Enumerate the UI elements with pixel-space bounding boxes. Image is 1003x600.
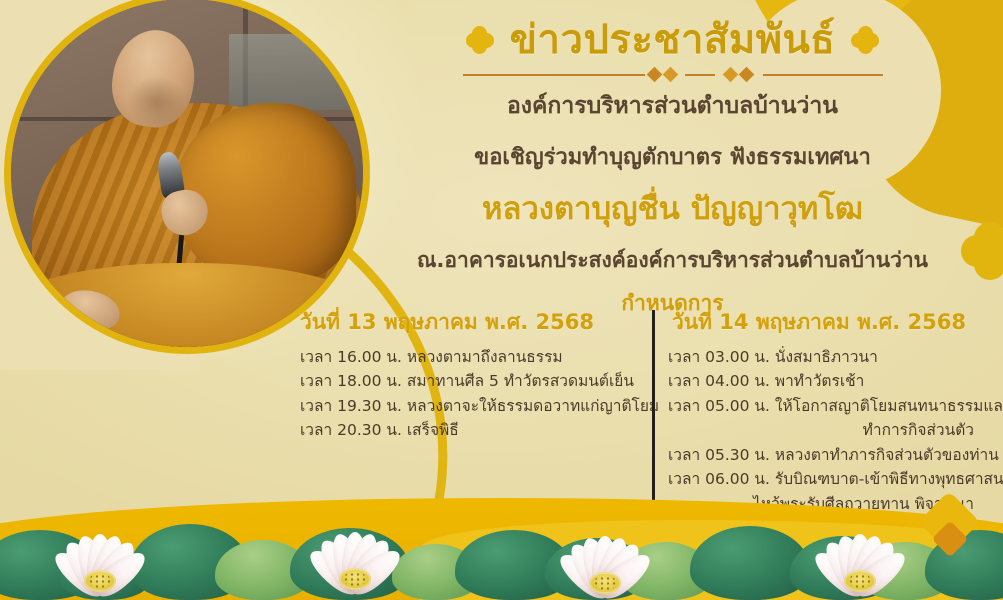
- monk-name-heading: หลวงตาบุญชื่น ปัญญาวุทโฒ: [360, 183, 985, 233]
- list-item: เวลา 18.00 น. สมาทานศีล 5 ทำวัตรสวดมนต์เ…: [300, 369, 634, 393]
- monk-face-shadow: [127, 76, 187, 128]
- lotus-flower-icon: [800, 516, 920, 600]
- lotus-flower-icon: [40, 516, 160, 600]
- list-item: เวลา 20.30 น. เสร็จพิธี: [300, 418, 634, 442]
- monk-portrait-photo: [4, 0, 370, 354]
- schedule-date-day2: วันที่ 14 พฤษภาคม พ.ศ. 2568: [672, 306, 990, 339]
- lotus-flower-icon: [545, 518, 665, 600]
- venue-text: ณ.อาคารอเนกประสงค์องค์การบริหารส่วนตำบลบ…: [360, 244, 985, 277]
- list-item: เวลา 16.00 น. หลวงตามาถึงลานธรรม: [300, 345, 634, 369]
- lotus-flower-icon: [295, 514, 415, 600]
- header-block: ข่าวประชาสัมพันธ์ องค์การบริหารส่วนตำบลบ…: [360, 18, 985, 320]
- quatrefoil-icon-right: [851, 26, 879, 54]
- title-divider-ornament: [463, 68, 883, 82]
- list-item: ทำการกิจส่วนตัว: [668, 418, 990, 442]
- monk-portrait-image: [11, 0, 363, 347]
- invitation-text: ขอเชิญร่วมทำบุญตักบาตร ฟังธรรมเทศนา: [360, 139, 985, 174]
- list-item: เวลา 19.30 น. หลวงตาจะให้ธรรมดอวาทแก่ญาต…: [300, 394, 634, 418]
- page-title: ข่าวประชาสัมพันธ์: [510, 18, 836, 62]
- poster-canvas: ข่าวประชาสัมพันธ์ องค์การบริหารส่วนตำบลบ…: [0, 0, 1003, 600]
- temple-roof-icon: [915, 500, 985, 566]
- list-item: เวลา 05.00 น. ให้โอกาสญาติโยมสนทนาธรรมแล…: [668, 394, 990, 418]
- organization-name: องค์การบริหารส่วนตำบลบ้านว่าน: [360, 88, 985, 124]
- quatrefoil-icon-left: [466, 26, 494, 54]
- list-item: เวลา 04.00 น. พาทำวัตรเช้า: [668, 369, 990, 393]
- lotus-band-decoration: [0, 480, 1003, 600]
- list-item: เวลา 03.00 น. นั่งสมาธิภาวนา: [668, 345, 990, 369]
- schedule-date-day1: วันที่ 13 พฤษภาคม พ.ศ. 2568: [300, 306, 634, 339]
- title-row: ข่าวประชาสัมพันธ์: [360, 18, 985, 62]
- list-item: เวลา 05.30 น. หลวงตาทำภารกิจส่วนตัวของท่…: [668, 443, 990, 467]
- photo-background-panel: [229, 34, 363, 111]
